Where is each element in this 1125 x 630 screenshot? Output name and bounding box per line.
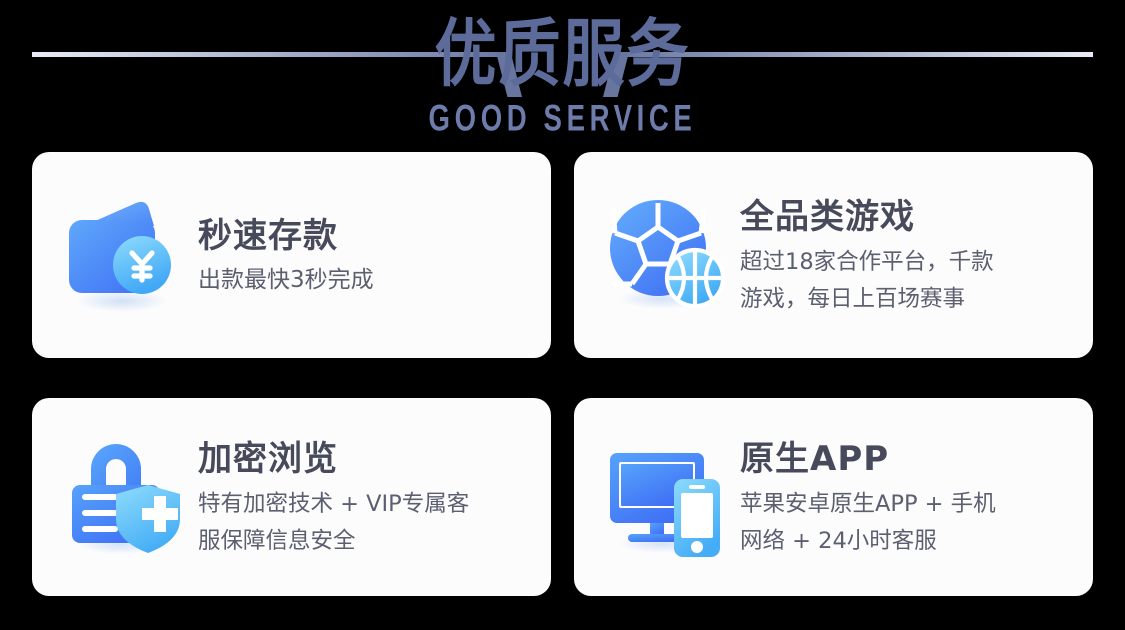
page-root: 优质服务 GOOD SERVICE <box>0 0 1125 630</box>
card-subtitle: 特有加密技术 + VIP专属客 服保障信息安全 <box>198 486 541 560</box>
feature-card-games[interactable]: 全品类游戏 超过18家合作平台，千款 游戏，每日上百场赛事 <box>574 152 1093 358</box>
page-subtitle: GOOD SERVICE <box>45 100 1080 139</box>
card-subtitle: 苹果安卓原生APP + 手机 网络 + 24小时客服 <box>740 486 1083 560</box>
monitor-phone-icon <box>600 431 732 563</box>
card-text-block: 秒速存款 出款最快3秒完成 <box>198 212 541 298</box>
feature-card-encryption[interactable]: 加密浏览 特有加密技术 + VIP专属客 服保障信息安全 <box>32 398 551 596</box>
card-subtitle: 出款最快3秒完成 <box>198 263 541 298</box>
feature-card-deposit[interactable]: 秒速存款 出款最快3秒完成 <box>32 152 551 358</box>
card-text-block: 全品类游戏 超过18家合作平台，千款 游戏，每日上百场赛事 <box>740 193 1083 318</box>
soccer-basketball-icon <box>600 189 732 321</box>
card-title: 原生APP <box>740 437 1083 481</box>
lock-shield-icon <box>58 431 190 563</box>
card-subtitle: 超过18家合作平台，千款 游戏，每日上百场赛事 <box>740 244 1083 318</box>
card-text-block: 原生APP 苹果安卓原生APP + 手机 网络 + 24小时客服 <box>740 435 1083 560</box>
feature-card-native-app[interactable]: 原生APP 苹果安卓原生APP + 手机 网络 + 24小时客服 <box>574 398 1093 596</box>
card-text-block: 加密浏览 特有加密技术 + VIP专属客 服保障信息安全 <box>198 435 541 560</box>
card-title: 秒速存款 <box>198 214 541 258</box>
card-title: 加密浏览 <box>198 437 541 481</box>
page-header: 优质服务 GOOD SERVICE <box>0 0 1125 148</box>
page-title: 优质服务 <box>0 8 1125 100</box>
card-title: 全品类游戏 <box>740 195 1083 239</box>
feature-card-grid: 秒速存款 出款最快3秒完成 <box>32 152 1093 596</box>
wallet-yen-icon <box>58 189 190 321</box>
